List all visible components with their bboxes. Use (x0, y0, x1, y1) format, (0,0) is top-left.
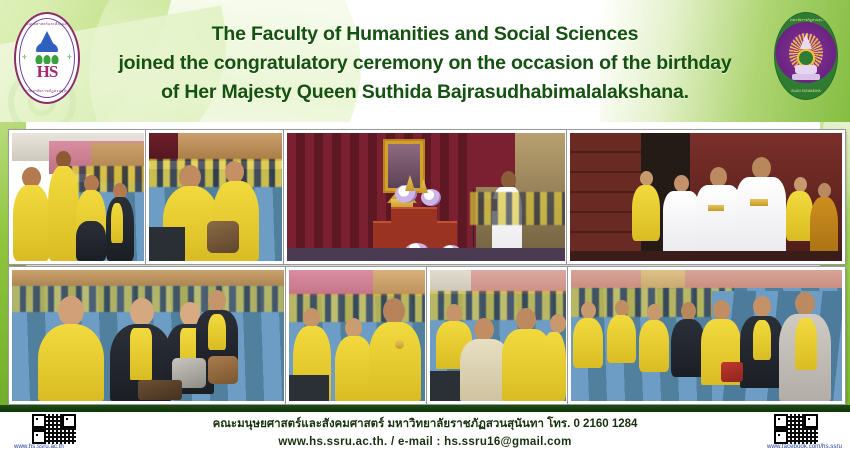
photo-audience-rows[interactable] (568, 267, 845, 404)
poster-footer: www.hs.ssru.ac.th คณะมนุษยศาสตร์และสังคม… (0, 412, 850, 453)
photo-seated-group-yellow[interactable] (286, 267, 428, 404)
title-line-2: joined the congratulatory ceremony on th… (118, 49, 731, 78)
photo-staff-standing-aisle[interactable] (9, 130, 147, 264)
poster-title: The Faculty of Humanities and Social Sci… (80, 13, 770, 113)
logo-cross-right-icon: ✛ (67, 56, 72, 61)
photo-gallery (0, 122, 850, 407)
faculty-hs-logo: คณะมนุษยศาสตร์และสังคมศาสตร์ HS ✛ ✛ มหาว… (14, 12, 80, 104)
seal-pedestal-icon (795, 65, 817, 74)
seal-pedestal-base-icon (792, 74, 820, 80)
logo-bottom-arc-text: มหาวิทยาลัยราชภัฏสวนสุนันทา (16, 88, 78, 94)
photo-image (430, 270, 566, 401)
qr-facebook[interactable] (774, 414, 818, 444)
photo-image (571, 270, 842, 401)
qr-website[interactable] (32, 414, 76, 444)
logo-spire-base-icon (36, 43, 58, 52)
seal-crown-icon (800, 34, 812, 49)
poster-root: คณะมนุษยศาสตร์และสังคมศาสตร์ HS ✛ ✛ มหาว… (0, 0, 850, 453)
photo-officials-white-uniform[interactable] (567, 130, 845, 264)
logo-monogram: HS (16, 62, 78, 82)
photo-image (12, 270, 284, 401)
qr-website-caption: www.hs.ssru.ac.th (14, 443, 64, 450)
photo-image (570, 133, 842, 261)
footer-line-1: คณะมนุษยศาสตร์และสังคมศาสตร์ มหาวิทยาลัย… (130, 415, 720, 433)
poster-header: คณะมนุษยศาสตร์และสังคมศาสตร์ HS ✛ ✛ มหาว… (0, 0, 850, 122)
ssru-university-seal: มหาวิทยาลัยราชภัฏสวนสุนันทา SUAN SUNANDH… (774, 12, 838, 100)
title-line-3: of Her Majesty Queen Suthida Bajrasudhab… (161, 78, 689, 107)
photo-seated-men-smiling[interactable] (427, 267, 569, 404)
photo-image (149, 133, 282, 261)
seal-top-arc-text: มหาวิทยาลัยราชภัฏสวนสุนันทา (775, 18, 837, 23)
photo-image (289, 270, 425, 401)
footer-separator-bar (0, 405, 850, 412)
photo-ceremony-stage[interactable] (284, 130, 568, 264)
qr-facebook-caption: www.facebook.com/hs.ssru (767, 443, 842, 450)
title-line-1: The Faculty of Humanities and Social Sci… (212, 20, 639, 49)
seal-bottom-arc-text: SUAN SUNANDHA (775, 89, 837, 93)
photo-image (287, 133, 565, 261)
photo-two-women-seated[interactable] (146, 130, 285, 264)
logo-top-arc-text: คณะมนุษยศาสตร์และสังคมศาสตร์ (16, 21, 78, 27)
logo-cross-left-icon: ✛ (22, 56, 27, 61)
footer-contact: คณะมนุษยศาสตร์และสังคมศาสตร์ มหาวิทยาลัย… (130, 415, 720, 451)
photo-seated-row-women[interactable] (9, 267, 287, 404)
footer-line-2: www.hs.ssru.ac.th. / e-mail : hs.ssru16@… (130, 433, 720, 451)
photo-image (12, 133, 144, 261)
